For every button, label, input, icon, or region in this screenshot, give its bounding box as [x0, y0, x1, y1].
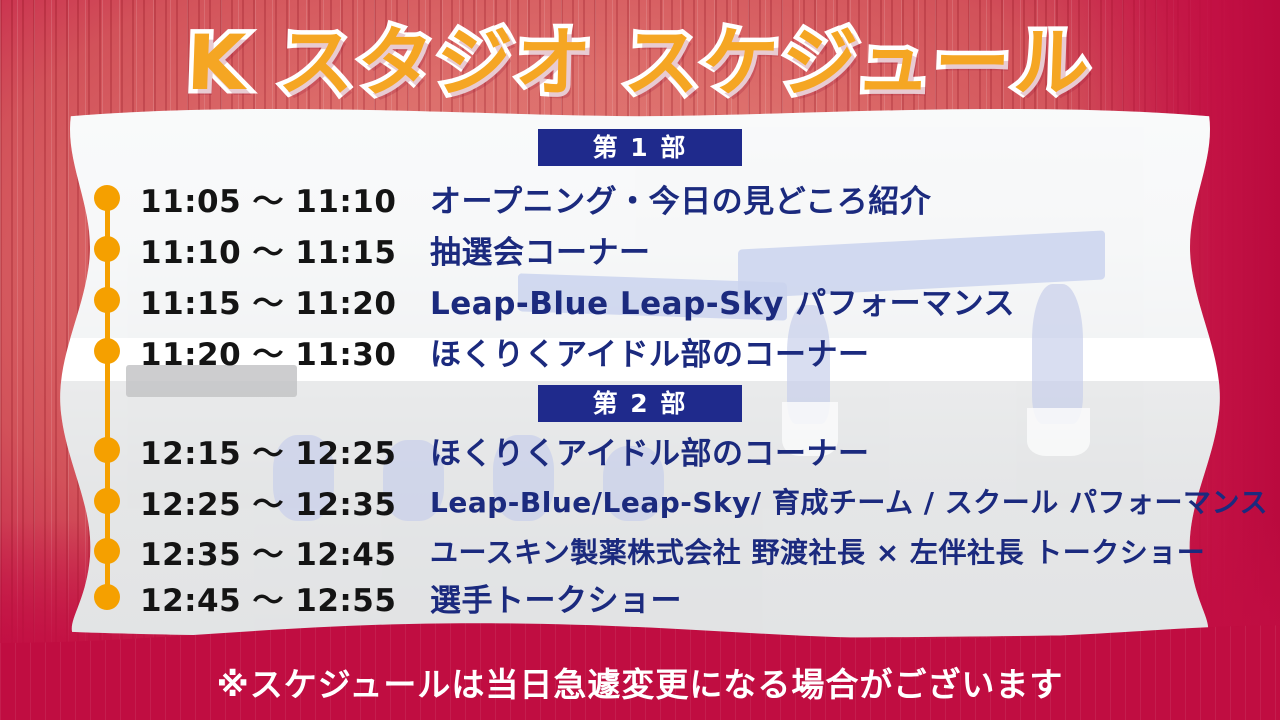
page-title: K スタジオ スケジュール	[185, 1, 1094, 111]
footer-banner: ※スケジュールは当日急遽変更になる場合がございます	[0, 610, 1280, 720]
schedule-description: ほくりくアイドル部のコーナー	[430, 329, 869, 374]
schedule-time: 11:15 〜 11:20	[140, 278, 430, 323]
schedule-time: 12:35 〜 12:45	[140, 529, 430, 574]
section-badge-part-1: 第 1 部	[538, 129, 742, 166]
schedule-description: オープニング・今日の見どころ紹介	[430, 176, 931, 221]
schedule-time: 11:20 〜 11:30	[140, 329, 430, 374]
footer-note: ※スケジュールは当日急遽変更になる場合がございます	[0, 658, 1280, 706]
timeline-dot	[94, 236, 120, 262]
schedule-poster: K スタジオ スケジュール 第 1 部 第 2 部	[0, 0, 1280, 720]
timeline-dot	[94, 437, 120, 463]
schedule-row: 11:15 〜 11:20 Leap-Blue Leap-Sky パフォーマンス	[140, 278, 1250, 322]
schedule-description: 抽選会コーナー	[430, 227, 651, 272]
schedule-row: 12:15 〜 12:25 ほくりくアイドル部のコーナー	[140, 428, 1250, 472]
schedule-description: Leap-Blue Leap-Sky パフォーマンス	[430, 278, 1015, 323]
timeline-dot	[94, 338, 120, 364]
schedule-time: 12:15 〜 12:25	[140, 428, 430, 473]
timeline-dot	[94, 584, 120, 610]
title-banner: K スタジオ スケジュール	[0, 0, 1280, 112]
schedule-row: 12:25 〜 12:35 Leap-Blue/Leap-Sky/ 育成チーム …	[140, 479, 1250, 523]
timeline-dot	[94, 185, 120, 211]
schedule-description: ユースキン製薬株式会社 野渡社長 × 左伴社長 トークショー	[430, 531, 1205, 571]
timeline-dot	[94, 538, 120, 564]
timeline-dot	[94, 287, 120, 313]
section-badge-part-2: 第 2 部	[538, 385, 742, 422]
schedule-description: Leap-Blue/Leap-Sky/ 育成チーム / スクール パフォーマンス	[430, 481, 1268, 521]
schedule-time: 11:05 〜 11:10	[140, 176, 430, 221]
schedule-row: 11:05 〜 11:10 オープニング・今日の見どころ紹介	[140, 176, 1250, 220]
schedule-time: 11:10 〜 11:15	[140, 227, 430, 272]
timeline-dot	[94, 488, 120, 514]
schedule-time: 12:25 〜 12:35	[140, 479, 430, 524]
schedule-row: 11:10 〜 11:15 抽選会コーナー	[140, 227, 1250, 271]
schedule-row: 12:35 〜 12:45 ユースキン製薬株式会社 野渡社長 × 左伴社長 トー…	[140, 529, 1250, 573]
schedule-description: ほくりくアイドル部のコーナー	[430, 428, 869, 473]
schedule-row: 11:20 〜 11:30 ほくりくアイドル部のコーナー	[140, 329, 1250, 373]
